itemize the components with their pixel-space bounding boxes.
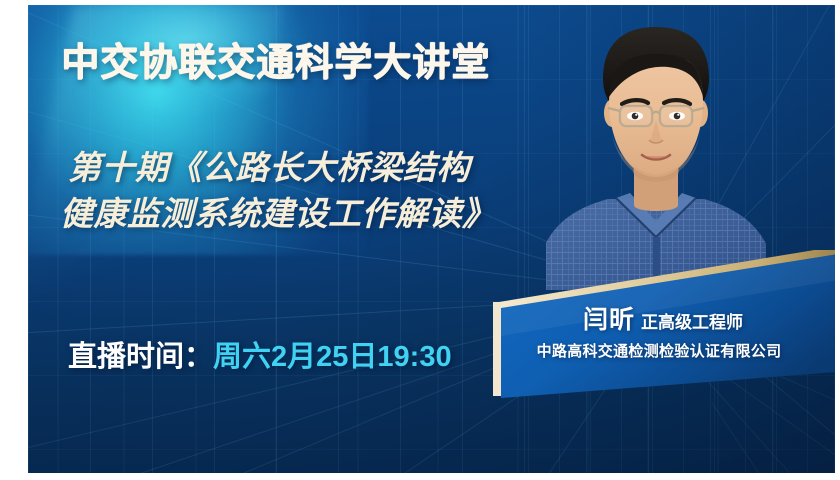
- page-title: 中交协联交通科学大讲堂: [61, 31, 490, 86]
- subtitle-block: 第十期《公路长大桥梁结构 健康监测系统建设工作解读》: [68, 145, 496, 237]
- speaker-panel-shape: [483, 250, 835, 473]
- poster-frame: 中交协联交通科学大讲堂 第十期《公路长大桥梁结构 健康监测系统建设工作解读》 直…: [0, 0, 840, 480]
- live-time-row: 直播时间：周六2月25日19:30: [68, 333, 452, 375]
- live-time-label: 直播时间：: [68, 341, 213, 373]
- live-time-value: 周六2月25日19:30: [213, 341, 452, 373]
- poster-canvas: 中交协联交通科学大讲堂 第十期《公路长大桥梁结构 健康监测系统建设工作解读》 直…: [28, 5, 835, 473]
- speaker-info-panel: 闫昕正高级工程师 中路高科交通检测检验认证有限公司: [483, 250, 835, 473]
- presenter-portrait-photo: [546, 5, 766, 290]
- subtitle-line-1: 第十期《公路长大桥梁结构: [68, 145, 496, 191]
- subtitle-line-2: 健康监测系统建设工作解读》: [60, 191, 496, 237]
